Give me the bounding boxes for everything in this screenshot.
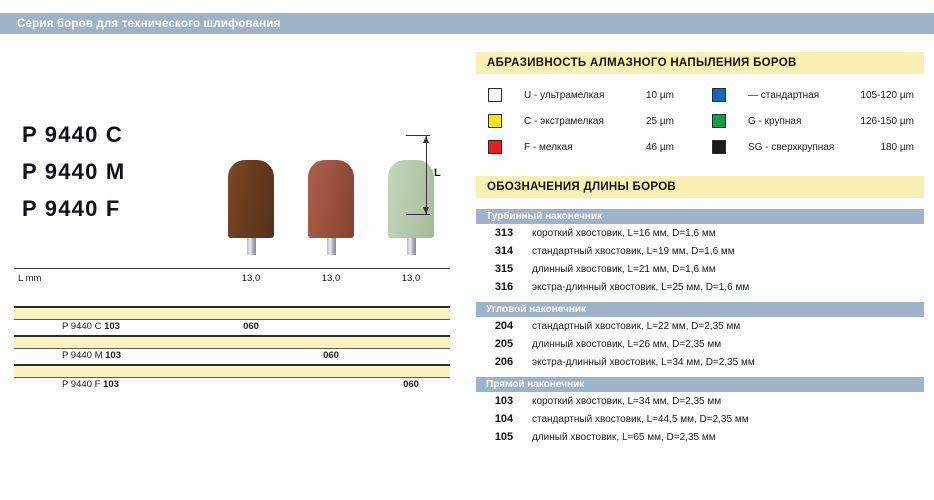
legend-label: C - экстрамелкая [524, 116, 604, 127]
row-name-prefix: P 9440 C [62, 321, 104, 332]
length-dimension-indicator: L [418, 135, 448, 215]
list-item: 316 экстра-длинный хвостовик, L=25 мм, D… [476, 281, 924, 299]
info-panel: АБРАЗИВНОСТЬ АЛМАЗНОГО НАПЫЛЕНИЯ БОРОВ U… [466, 40, 934, 460]
legend-column-left: U - ультрамелкая 10 µm C - экстрамелкая … [476, 88, 700, 154]
bur-shank-icon [247, 238, 256, 255]
swatch-yellow-icon [488, 114, 502, 128]
length-description: длиный хвостовик, L=65 мм, D=2,35 мм [532, 432, 716, 443]
length-group-contraangle: Угловой наконечник 204 стандартный хвост… [476, 302, 924, 377]
length-description: длинный хвостовик, L=21 мм, D=1,6 мм [532, 264, 716, 275]
row-name-code: 103 [103, 379, 119, 390]
product-code-list: P 9440 C P 9440 M P 9440 F [22, 122, 125, 222]
row-product-name: P 9440 C 103 [62, 321, 120, 332]
length-code: 204 [476, 320, 532, 332]
row-content: P 9440 F 103 060 [14, 378, 450, 393]
length-group-straight: Прямой наконечник 103 короткий хвостовик… [476, 377, 924, 452]
length-code: 315 [476, 263, 532, 275]
list-item: 315 длинный хвостовик, L=21 мм, D=1,6 мм [476, 263, 924, 281]
dimension-line [426, 135, 427, 215]
abrasiveness-section-title: АБРАЗИВНОСТЬ АЛМАЗНОГО НАПЫЛЕНИЯ БОРОВ [476, 52, 924, 74]
length-code: 206 [476, 356, 532, 368]
lmm-row-label: L mm [18, 273, 41, 284]
list-item: 204 стандартный хвостовик, L=22 мм, D=2,… [476, 320, 924, 338]
list-item: 313 короткий хвостовик, L=16 мм, D=1,6 м… [476, 227, 924, 245]
row-color-band [14, 364, 450, 378]
list-item: 314 стандартный хвостовик, L=19 мм, D=1,… [476, 245, 924, 263]
group-title: Прямой наконечник [476, 377, 924, 392]
row-product-name: P 9440 F 103 [62, 379, 119, 390]
legend-label: — стандартная [748, 90, 819, 101]
list-item: 104 стандартный хвостовик, L=44,5 мм, D=… [476, 413, 924, 431]
legend-label: U - ультрамелкая [524, 90, 604, 101]
row-name-code: 103 [104, 321, 120, 332]
bur-shank-icon [407, 238, 416, 255]
bur-illustrations [228, 135, 448, 255]
length-code: 313 [476, 227, 532, 239]
group-title: Угловой наконечник [476, 302, 924, 317]
product-code-f: P 9440 F [22, 196, 125, 222]
list-item: 105 длиный хвостовик, L=65 мм, D=2,35 мм [476, 431, 924, 449]
legend-value: 25 µm [646, 116, 700, 127]
lmm-value-3: 13,0 [388, 273, 434, 284]
page-banner: Серия боров для технического шлифования [0, 13, 934, 34]
legend-value: 46 µm [646, 142, 700, 153]
length-description: стандартный хвостовик, L=22 мм, D=2,35 м… [532, 321, 740, 332]
length-code: 316 [476, 281, 532, 293]
bur-shank-icon [327, 238, 336, 255]
length-description: экстра-длинный хвостовик, L=34 мм, D=2,3… [532, 357, 755, 368]
length-description: экстра-длинный хвостовик, L=25 мм, D=1,6… [532, 282, 749, 293]
row-size-value: 060 [308, 350, 354, 361]
row-product-name: P 9440 M 103 [62, 350, 121, 361]
swatch-green-icon [712, 114, 726, 128]
product-table: P 9440 C 103 060 P 9440 M 103 060 P 9440… [14, 306, 450, 393]
length-description: стандартный хвостовик, L=44,5 мм, D=2,35… [532, 414, 749, 425]
lengths-section-title: ОБОЗНАЧЕНИЯ ДЛИНЫ БОРОВ [476, 176, 924, 198]
list-item: 205 длинный хвостовик, L=26 мм, D=2,35 м… [476, 338, 924, 356]
length-code: 105 [476, 431, 532, 443]
product-panel: P 9440 C P 9440 M P 9440 F L L mm 13,0 1… [0, 40, 466, 370]
swatch-blue-icon [712, 88, 726, 102]
group-title: Турбинный наконечник [476, 209, 924, 224]
bur-figure-coarse [228, 160, 274, 255]
legend-item-extrafine: C - экстрамелкая 25 µm [476, 114, 700, 128]
table-row: P 9440 F 103 060 [14, 364, 450, 393]
legend-column-right: — стандартная 105-120 µm G - крупная 126… [700, 88, 924, 154]
length-description: короткий хвостовик, L=34 мм, D=2,35 мм [532, 396, 721, 407]
row-size-value: 060 [388, 379, 434, 390]
legend-item-supercoarse: SG - сверхкрупная 180 µm [700, 140, 924, 154]
product-code-m: P 9440 M [22, 159, 125, 185]
abrasiveness-legend: U - ультрамелкая 10 µm C - экстрамелкая … [476, 88, 924, 154]
list-item: 103 короткий хвостовик, L=34 мм, D=2,35 … [476, 395, 924, 413]
legend-item-coarse: G - крупная 126-150 µm [700, 114, 924, 128]
legend-label: SG - сверхкрупная [748, 142, 834, 153]
legend-item-ultrafine: U - ультрамелкая 10 µm [476, 88, 700, 102]
length-designations: Турбинный наконечник 313 короткий хвосто… [476, 209, 924, 452]
bur-figure-medium [308, 160, 354, 255]
group-rows: 313 короткий хвостовик, L=16 мм, D=1,6 м… [476, 224, 924, 302]
dimension-label-L: L [434, 167, 441, 179]
legend-value: 126-150 µm [860, 116, 924, 127]
row-name-code: 103 [105, 350, 121, 361]
list-item: 206 экстра-длинный хвостовик, L=34 мм, D… [476, 356, 924, 374]
length-group-turbine: Турбинный наконечник 313 короткий хвосто… [476, 209, 924, 302]
row-name-prefix: P 9440 M [62, 350, 105, 361]
swatch-white-icon [488, 88, 502, 102]
bur-head-icon [308, 160, 354, 238]
row-content: P 9440 C 103 060 [14, 320, 450, 335]
length-code: 314 [476, 245, 532, 257]
row-color-band [14, 335, 450, 349]
bur-head-icon [228, 160, 274, 238]
legend-item-standard: — стандартная 105-120 µm [700, 88, 924, 102]
lmm-value-1: 13,0 [228, 273, 274, 284]
legend-value: 105-120 µm [860, 90, 924, 101]
length-description: стандартный хвостовик, L=19 мм, D=1,6 мм [532, 246, 735, 257]
table-row: P 9440 C 103 060 [14, 306, 450, 335]
swatch-red-icon [488, 140, 502, 154]
arrow-up-icon [423, 136, 429, 143]
length-description: длинный хвостовик, L=26 мм, D=2,35 мм [532, 339, 721, 350]
length-description: короткий хвостовик, L=16 мм, D=1,6 мм [532, 228, 716, 239]
lmm-divider [14, 268, 450, 269]
arrow-down-icon [423, 207, 429, 214]
legend-value: 180 µm [880, 142, 924, 153]
row-color-band [14, 306, 450, 320]
page-title: Серия боров для технического шлифования [0, 18, 280, 30]
legend-item-fine: F - мелкая 46 µm [476, 140, 700, 154]
legend-label: F - мелкая [524, 142, 573, 153]
legend-value: 10 µm [646, 90, 700, 101]
product-code-c: P 9440 C [22, 122, 125, 148]
legend-label: G - крупная [748, 116, 801, 127]
group-rows: 204 стандартный хвостовик, L=22 мм, D=2,… [476, 317, 924, 377]
length-code: 103 [476, 395, 532, 407]
length-code: 205 [476, 338, 532, 350]
row-name-prefix: P 9440 F [62, 379, 103, 390]
table-row: P 9440 M 103 060 [14, 335, 450, 364]
row-content: P 9440 M 103 060 [14, 349, 450, 364]
length-code: 104 [476, 413, 532, 425]
group-rows: 103 короткий хвостовик, L=34 мм, D=2,35 … [476, 392, 924, 452]
swatch-black-icon [712, 140, 726, 154]
row-size-value: 060 [228, 321, 274, 332]
lmm-value-2: 13,0 [308, 273, 354, 284]
